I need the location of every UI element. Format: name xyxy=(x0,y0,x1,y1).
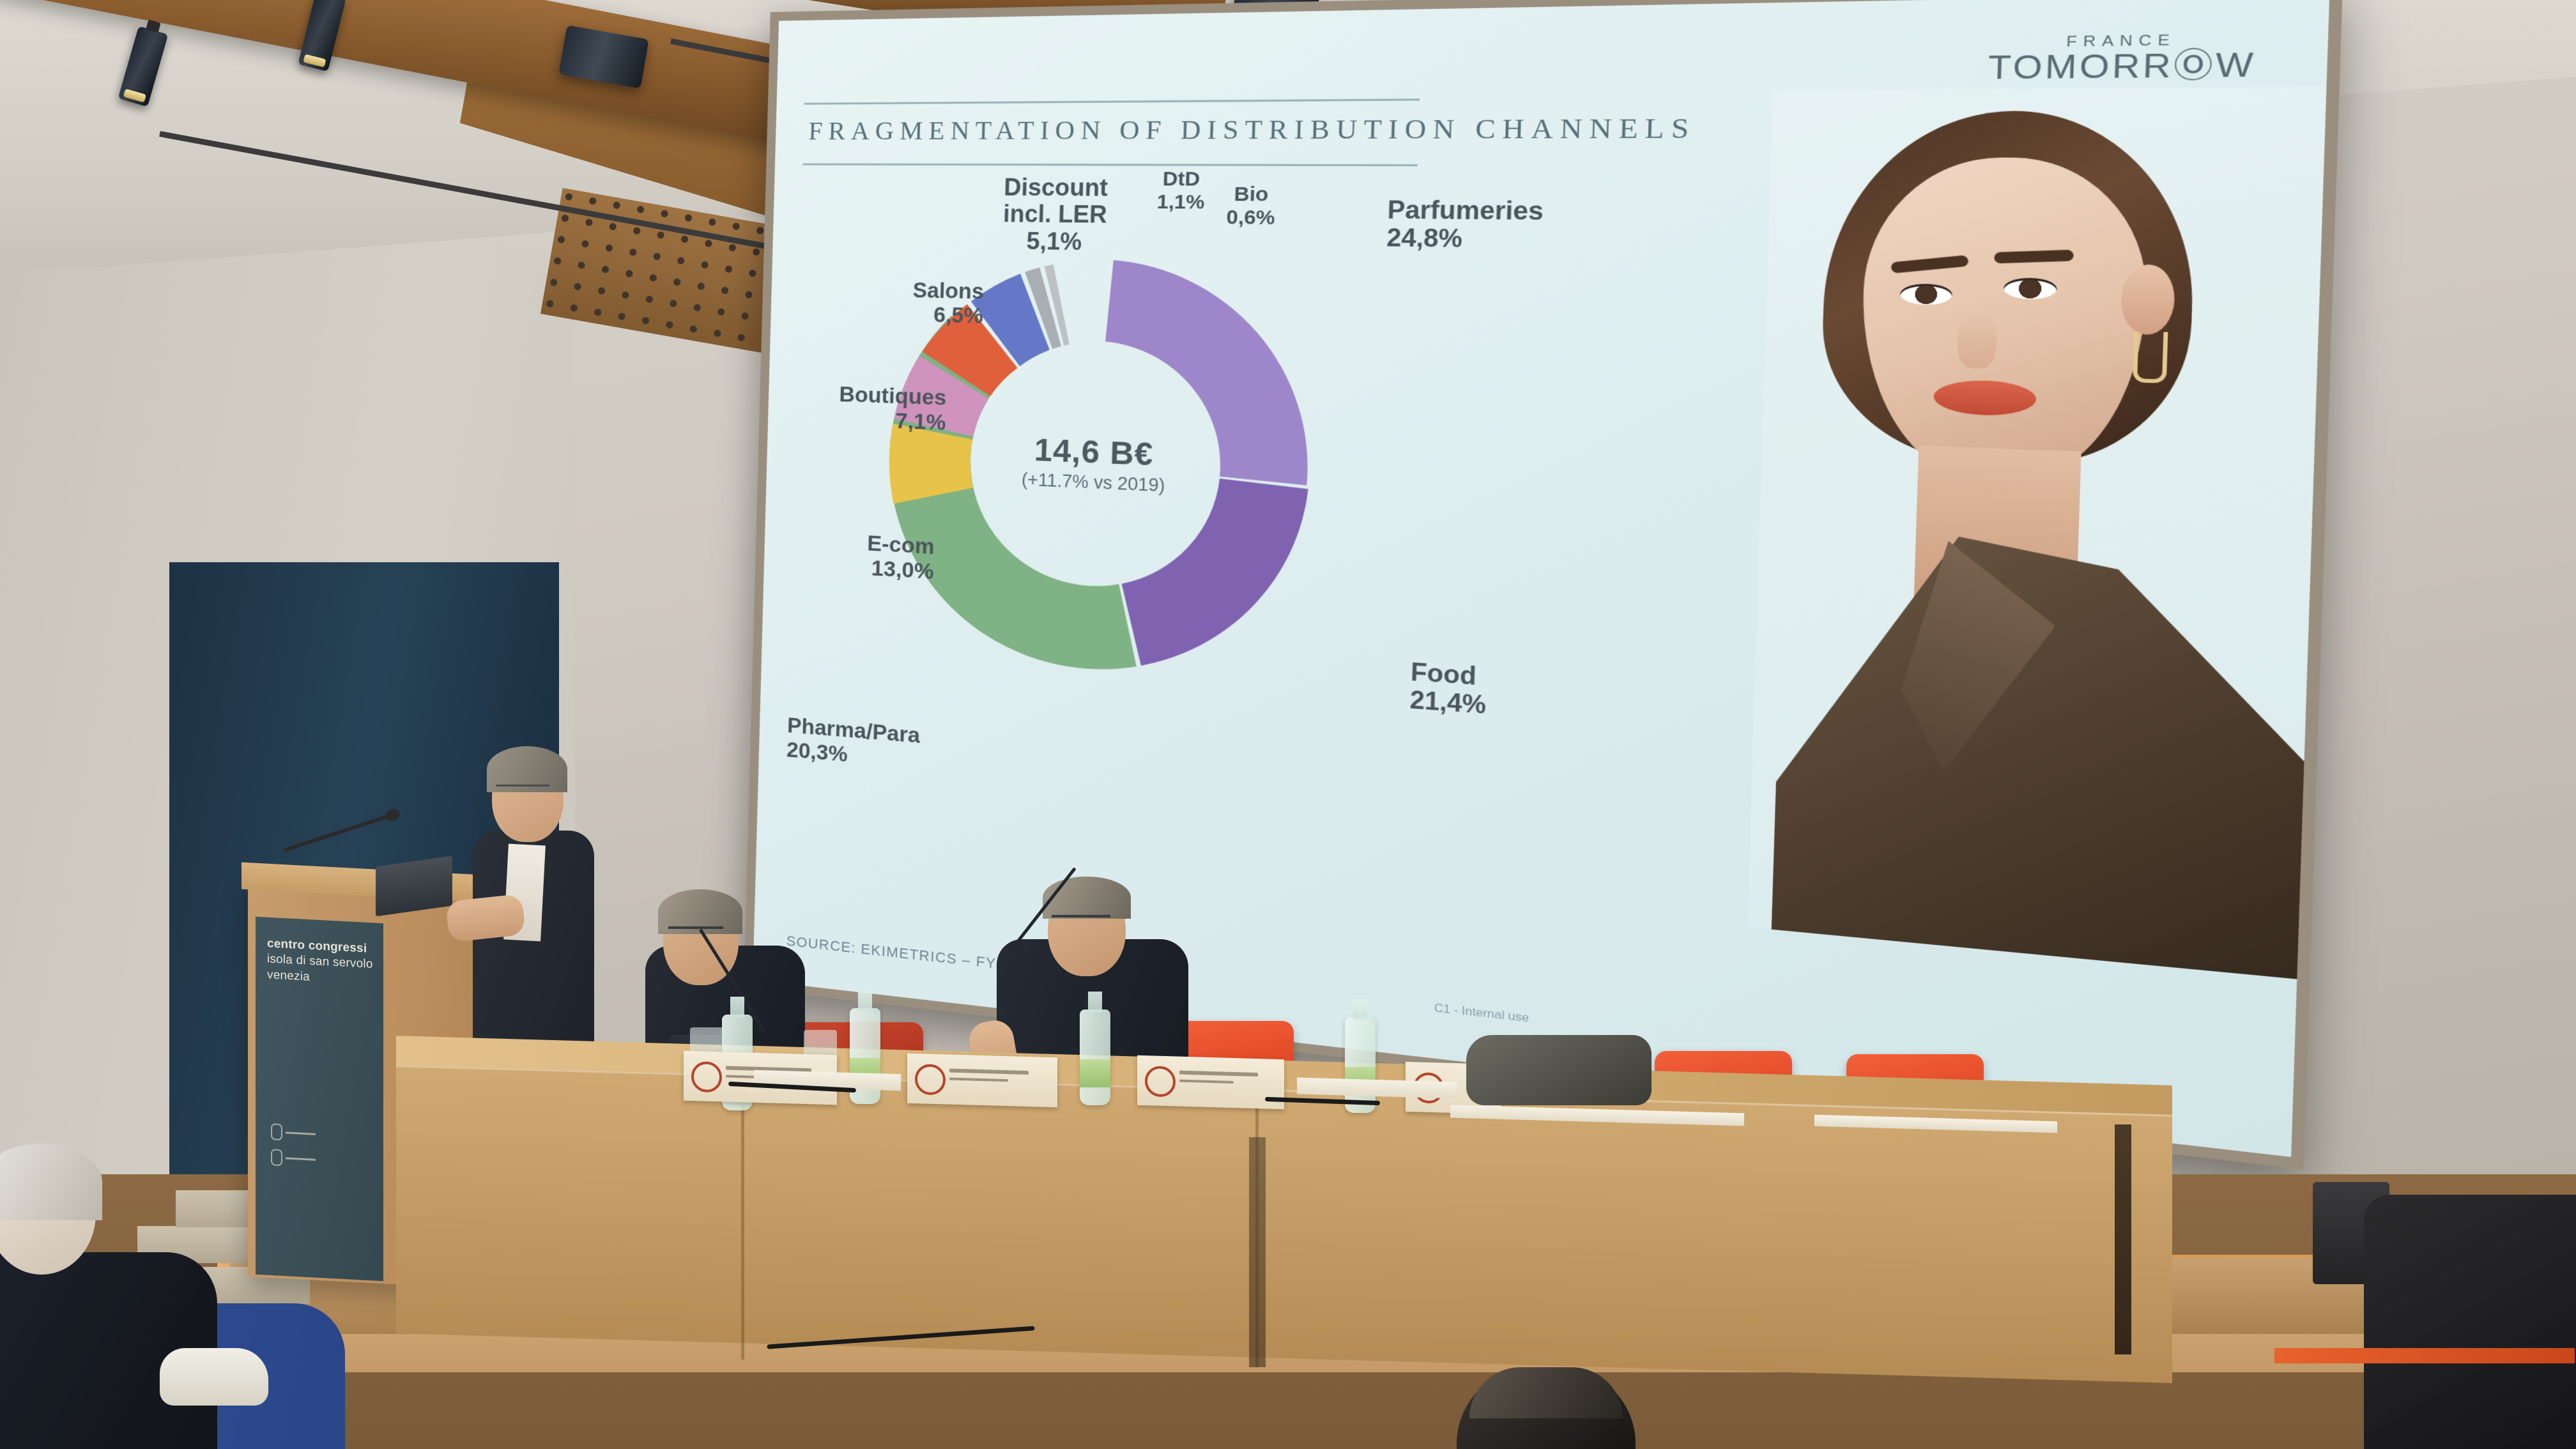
projection-screen: FRAGMENTATION OF DISTRIBUTION CHANNELS F… xyxy=(753,0,2329,1157)
venue-logo-icon xyxy=(271,1123,316,1190)
water-bottle xyxy=(1345,1017,1376,1113)
label-pharma-para: Pharma/Para 20,3% xyxy=(786,713,921,773)
name-line xyxy=(1179,1071,1258,1077)
logo-line xyxy=(286,1131,316,1135)
label-parfumeries: Parfumeries 24,8% xyxy=(1386,196,1544,254)
name-line xyxy=(949,1069,1029,1075)
model-photo xyxy=(1747,86,2327,979)
panel-table-front xyxy=(396,1065,2172,1383)
projection-screen-frame: FRAGMENTATION OF DISTRIBUTION CHANNELS F… xyxy=(744,0,2343,1169)
name-card xyxy=(907,1054,1057,1108)
donut-total-value: 14,6 B€ xyxy=(1022,431,1167,474)
label-discount: Discount incl. LER 5,1% xyxy=(977,174,1134,256)
table-leg xyxy=(2115,1124,2131,1354)
standing-speaker-glasses xyxy=(496,785,549,797)
name-card-text xyxy=(949,1069,1051,1088)
panelist-glasses xyxy=(1052,915,1110,917)
table-seam xyxy=(741,1091,744,1360)
emblem-icon xyxy=(1145,1066,1176,1097)
panelist-hair xyxy=(1043,877,1131,919)
slide-classification-note: C1 - Internal use xyxy=(1434,1001,1529,1025)
label-salons: Salons 6,5% xyxy=(866,278,985,328)
table-leg xyxy=(1249,1137,1266,1367)
model-earring xyxy=(2133,332,2168,383)
logo-glyph xyxy=(271,1123,282,1140)
venue-sign: centro congressi isola di san servolo ve… xyxy=(267,936,382,988)
slide-title: FRAGMENTATION OF DISTRIBUTION CHANNELS xyxy=(808,111,1697,146)
logo-glyph xyxy=(271,1149,282,1166)
label-boutiques: Boutiques 7,1% xyxy=(798,381,947,435)
role-line xyxy=(949,1078,1008,1082)
presentation-slide: FRAGMENTATION OF DISTRIBUTION CHANNELS F… xyxy=(753,0,2329,1157)
title-rule xyxy=(804,98,1420,105)
audience-member-shoe xyxy=(160,1348,268,1406)
name-card-text xyxy=(1179,1071,1278,1090)
label-dtd: DtD 1,1% xyxy=(1146,168,1216,214)
role-line xyxy=(1179,1080,1234,1084)
stage-edge-strip xyxy=(2274,1348,2575,1363)
emblem-icon xyxy=(691,1061,722,1092)
name-card xyxy=(1137,1055,1284,1109)
model-nose xyxy=(1957,313,1998,369)
side-equipment xyxy=(2364,1195,2576,1449)
panelist-glasses xyxy=(668,926,723,929)
donut-center-label: 14,6 B€ (+11.7% vs 2019) xyxy=(1022,431,1167,496)
emblem-icon xyxy=(915,1064,946,1095)
label-food: Food 21,4% xyxy=(1409,658,1487,719)
model-jacket xyxy=(1771,528,2320,979)
slice-food xyxy=(1119,475,1308,677)
folded-jacket xyxy=(1466,1035,1652,1105)
water-bottle xyxy=(1080,1009,1110,1105)
france-tomorrow-logo: FRANCE TOMORRⓄW xyxy=(1988,31,2257,84)
label-bio: Bio 0,6% xyxy=(1215,183,1287,229)
conference-photo-scene: FRAGMENTATION OF DISTRIBUTION CHANNELS F… xyxy=(0,0,2576,1449)
title-rule xyxy=(802,164,1418,167)
logo-line xyxy=(286,1157,316,1160)
logo-bottom-text: TOMORRⓄW xyxy=(1988,49,2257,85)
label-ecom: E-com 13,0% xyxy=(805,528,935,584)
